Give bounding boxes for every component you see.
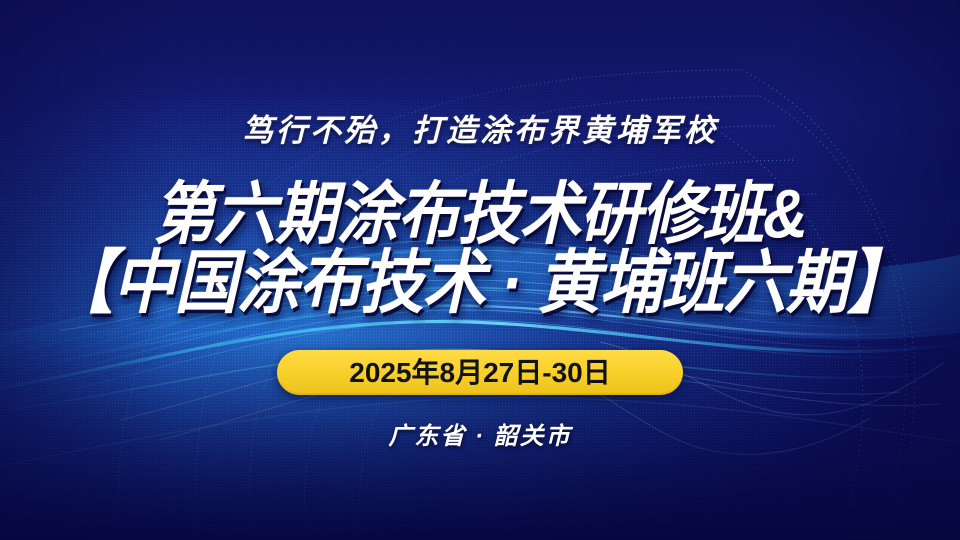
conference-poster: 笃行不殆，打造涂布界黄埔军校 第六期涂布技术研修班& 【中国涂布技术 · 黄埔班… bbox=[0, 0, 960, 540]
poster-subtitle: 笃行不殆，打造涂布界黄埔军校 bbox=[0, 105, 960, 150]
location-label: 广东省 · 韶关市 bbox=[0, 416, 960, 451]
date-badge: 2025年8月27日-30日 bbox=[277, 350, 683, 395]
poster-title: 第六期涂布技术研修班& 【中国涂布技术 · 黄埔班六期】 bbox=[0, 178, 960, 314]
poster-content: 笃行不殆，打造涂布界黄埔军校 第六期涂布技术研修班& 【中国涂布技术 · 黄埔班… bbox=[0, 0, 960, 540]
date-badge-label: 2025年8月27日-30日 bbox=[349, 359, 610, 387]
poster-title-line-2: 【中国涂布技术 · 黄埔班六期】 bbox=[0, 246, 960, 321]
poster-title-line-1: 第六期涂布技术研修班& bbox=[0, 178, 960, 253]
